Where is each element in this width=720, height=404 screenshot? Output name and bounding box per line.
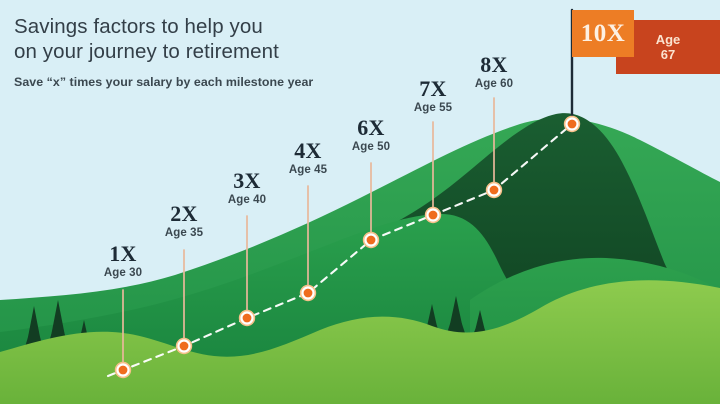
milestone-age: Age 50	[352, 140, 390, 154]
dot-6x	[363, 232, 379, 248]
dot-4x	[300, 285, 316, 301]
milestone-age: Age 60	[475, 77, 513, 91]
milestone-multiplier: 3X	[228, 170, 266, 191]
milestone-label-2x: 2X Age 35	[165, 203, 203, 240]
milestone-label-3x: 3X Age 40	[228, 170, 266, 207]
page-title: Savings factors to help you on your jour…	[14, 14, 444, 64]
milestone-multiplier: 4X	[289, 140, 327, 161]
milestone-label-1x: 1X Age 30	[104, 243, 142, 280]
milestone-label-8x: 8X Age 60	[475, 54, 513, 91]
milestone-age: Age 35	[165, 226, 203, 240]
headline-block: Savings factors to help you on your jour…	[14, 14, 444, 89]
milestone-age: Age 45	[289, 163, 327, 177]
dot-1x	[115, 362, 131, 378]
dot-8x	[486, 182, 502, 198]
milestone-multiplier: 6X	[352, 117, 390, 138]
milestone-label-6x: 6X Age 50	[352, 117, 390, 154]
milestone-age: Age 30	[104, 266, 142, 280]
dot-2x	[176, 338, 192, 354]
milestone-multiplier: 2X	[165, 203, 203, 224]
summit-flag: Age 67 10X	[568, 4, 716, 78]
milestone-label-4x: 4X Age 45	[289, 140, 327, 177]
dot-10x	[564, 116, 580, 132]
milestone-multiplier: 1X	[104, 243, 142, 264]
milestone-multiplier: 8X	[475, 54, 513, 75]
flag-multiplier-panel: 10X	[572, 10, 634, 57]
infographic-canvas: Savings factors to help you on your jour…	[0, 0, 720, 404]
milestone-age: Age 55	[414, 101, 452, 115]
dot-7x	[425, 207, 441, 223]
dot-3x	[239, 310, 255, 326]
milestone-age: Age 40	[228, 193, 266, 207]
flag-age-word: Age	[656, 32, 681, 47]
flag-multiplier-label: 10X	[581, 20, 626, 48]
flag-age-number: 67	[661, 47, 675, 62]
page-subtitle: Save “x” times your salary by each miles…	[14, 75, 444, 89]
